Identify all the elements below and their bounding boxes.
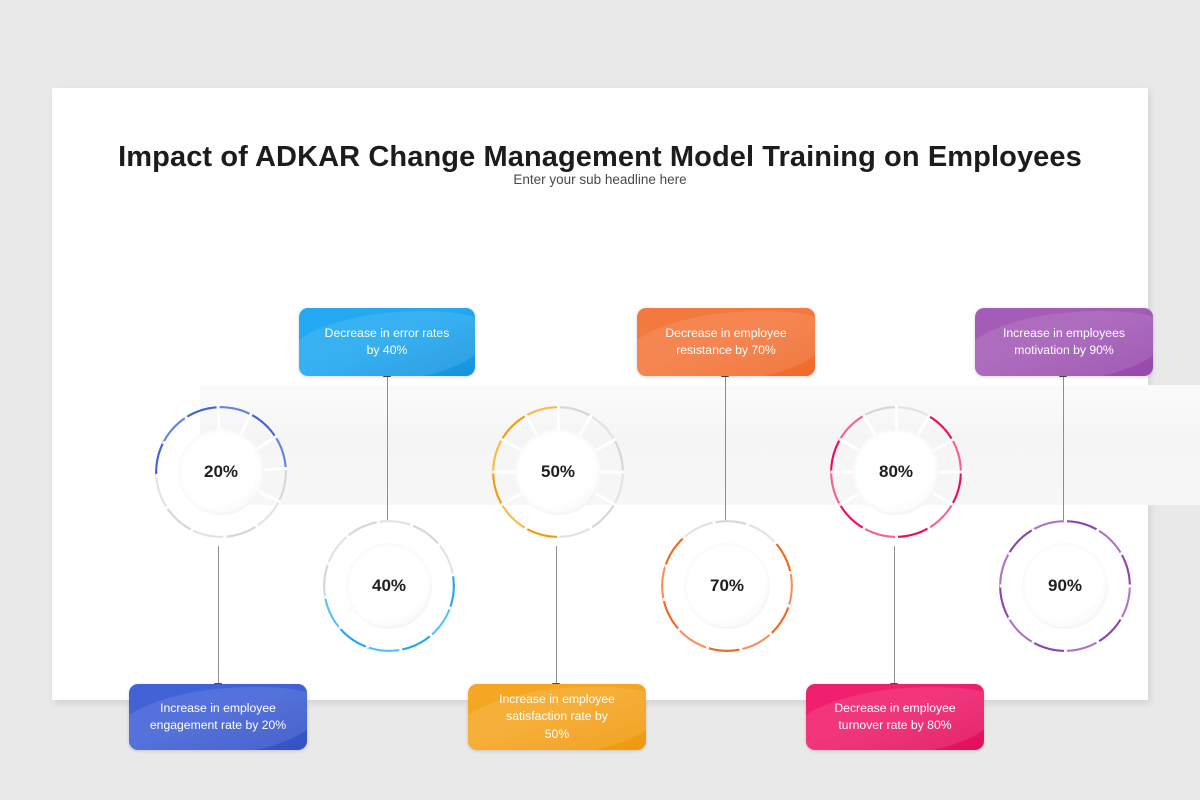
gauge-90: 90% <box>999 520 1131 652</box>
page-title: Impact of ADKAR Change Management Model … <box>52 141 1148 174</box>
gauge-value-label: 40% <box>323 520 455 652</box>
connector-90 <box>1063 376 1064 520</box>
connector-40 <box>387 376 388 520</box>
gauge-40: 40% <box>323 520 455 652</box>
callout-label: Increase in employees motivation by 90% <box>1003 325 1125 360</box>
callout-label: Increase in employee engagement rate by … <box>150 700 286 735</box>
gauge-20: 20% <box>155 406 287 538</box>
callout-50[interactable]: Increase in employee satisfaction rate b… <box>468 684 646 750</box>
gauge-value-label: 80% <box>830 406 962 538</box>
connector-70 <box>725 376 726 520</box>
gauge-50: 50% <box>492 406 624 538</box>
gauge-70: 70% <box>661 520 793 652</box>
gauge-value-label: 70% <box>661 520 793 652</box>
connector-20 <box>218 546 219 684</box>
gauge-value-label: 90% <box>999 520 1131 652</box>
gauge-80: 80% <box>830 406 962 538</box>
callout-label: Decrease in error rates by 40% <box>325 325 450 360</box>
page-subtitle: Enter your sub headline here <box>52 172 1148 187</box>
callout-label: Decrease in employee resistance by 70% <box>665 325 786 360</box>
connector-50 <box>556 546 557 684</box>
callout-40[interactable]: Decrease in error rates by 40% <box>299 308 475 376</box>
callout-label: Decrease in employee turnover rate by 80… <box>834 700 955 735</box>
connector-80 <box>894 546 895 684</box>
gauge-value-label: 50% <box>492 406 624 538</box>
gauge-value-label: 20% <box>155 406 287 538</box>
callout-label: Increase in employee satisfaction rate b… <box>499 691 615 743</box>
callout-70[interactable]: Decrease in employee resistance by 70% <box>637 308 815 376</box>
callout-80[interactable]: Decrease in employee turnover rate by 80… <box>806 684 984 750</box>
background-band <box>200 385 1200 505</box>
callout-20[interactable]: Increase in employee engagement rate by … <box>129 684 307 750</box>
callout-90[interactable]: Increase in employees motivation by 90% <box>975 308 1153 376</box>
slide-card: Impact of ADKAR Change Management Model … <box>52 88 1148 700</box>
